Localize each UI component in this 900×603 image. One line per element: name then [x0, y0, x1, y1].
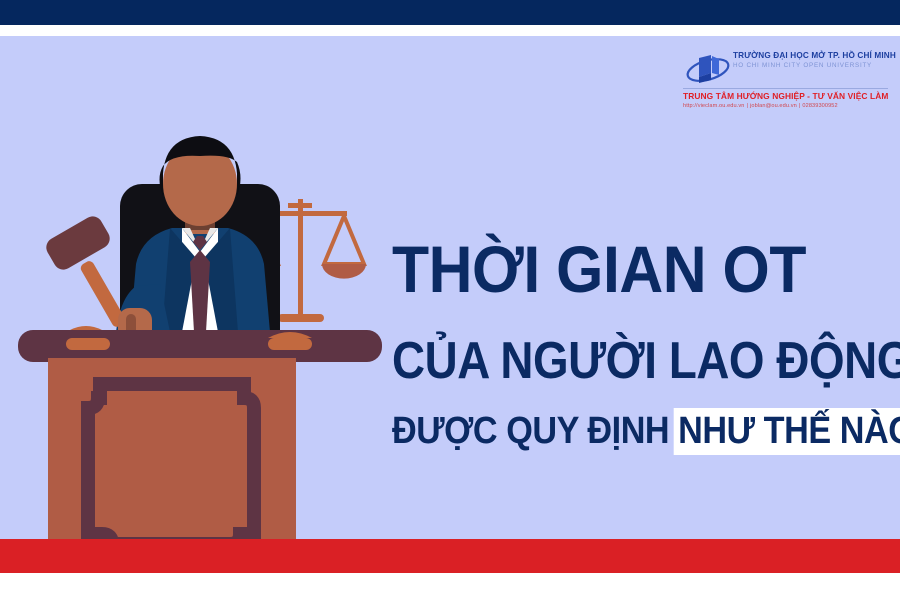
headline-line-3: ĐƯỢC QUY ĐỊNHNHƯ THẾ NÀO? [392, 408, 815, 454]
headline-line-1: THỜI GIAN OT [392, 232, 824, 306]
judge-bench [18, 326, 382, 539]
poster-canvas: TRƯỜNG ĐẠI HỌC MỞ TP. HỒ CHÍ MINH HO CHI… [0, 36, 900, 539]
headline-line-3-plain: ĐƯỢC QUY ĐỊNH [392, 410, 669, 452]
headline-block: THỜI GIAN OT CỦA NGƯỜI LAO ĐỘNG ĐƯỢC QUY… [392, 232, 862, 454]
bottom-red-bar [0, 539, 900, 573]
judge-illustration [0, 36, 400, 539]
bottom-white-margin [0, 573, 900, 603]
poster-root: TRƯỜNG ĐẠI HỌC MỞ TP. HỒ CHÍ MINH HO CHI… [0, 0, 900, 603]
university-name-vi: TRƯỜNG ĐẠI HỌC MỞ TP. HỒ CHÍ MINH [733, 50, 888, 61]
contact-line: http://vieclam.ou.edu.vn|joblan@ou.edu.v… [683, 102, 893, 110]
university-name-lines: TRƯỜNG ĐẠI HỌC MỞ TP. HỒ CHÍ MINH HO CHI… [733, 50, 888, 70]
university-emblem-icon [685, 52, 731, 86]
contact-website[interactable]: http://vieclam.ou.edu.vn [683, 103, 744, 109]
center-name: TRUNG TÂM HƯỚNG NGHIỆP - TƯ VẤN VIỆC LÀM [683, 91, 888, 102]
headline-line-3-highlight: NHƯ THẾ NÀO? [674, 408, 900, 455]
contact-email[interactable]: joblan@ou.edu.vn [750, 103, 797, 109]
contact-phone: 02839300952 [802, 103, 837, 109]
top-navy-bar [0, 0, 900, 25]
logo-divider [683, 88, 888, 89]
university-name-en: HO CHI MINH CITY OPEN UNIVERSITY [733, 61, 888, 70]
university-logo-block: TRƯỜNG ĐẠI HỌC MỞ TP. HỒ CHÍ MINH HO CHI… [683, 50, 888, 112]
headline-line-2: CỦA NGƯỜI LAO ĐỘNG [392, 330, 806, 392]
